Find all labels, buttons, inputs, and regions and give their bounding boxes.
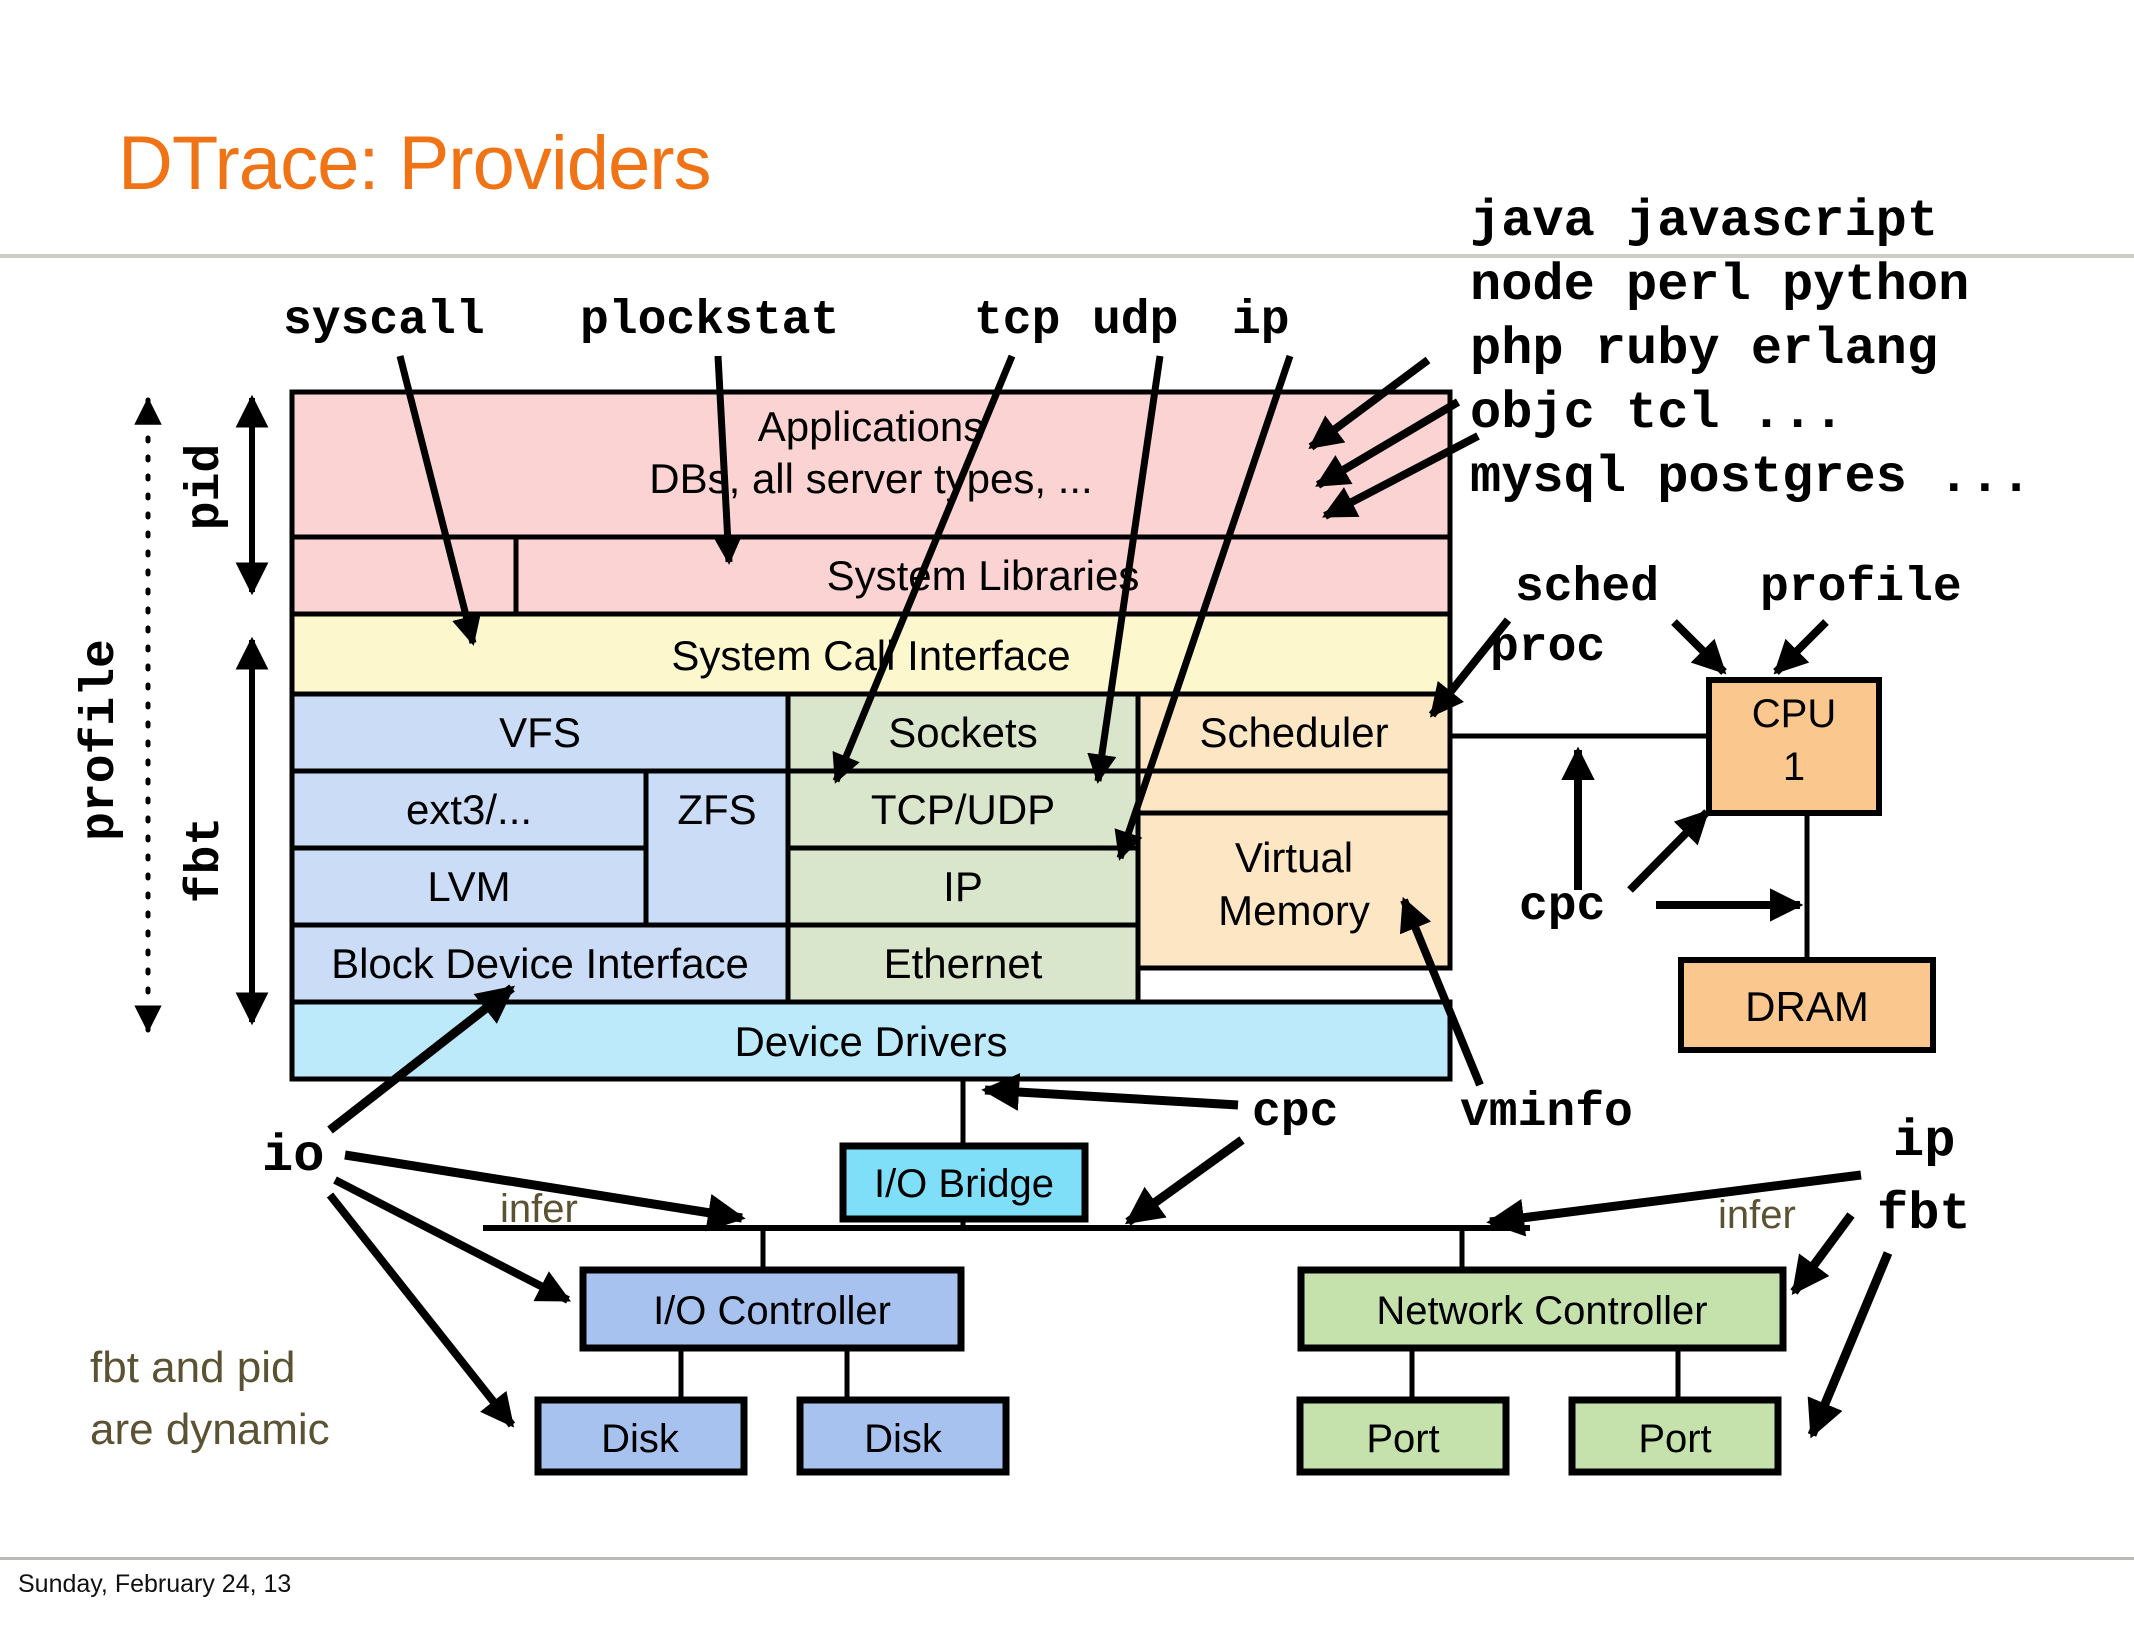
label-network-controller: Network Controller	[1376, 1289, 1707, 1333]
label-cpu-line2: 1	[1783, 745, 1805, 789]
label-io-bridge: I/O Bridge	[874, 1162, 1054, 1206]
leader-ip-bus	[1490, 1175, 1861, 1222]
label-zfs: ZFS	[677, 786, 756, 833]
provider-syscall: syscall	[283, 294, 485, 348]
label-disk-2: Disk	[864, 1417, 943, 1461]
provider-ip-top: ip	[1232, 294, 1290, 348]
provider-vminfo: vminfo	[1460, 1086, 1633, 1140]
provider-tcp: tcp	[974, 294, 1060, 348]
provider-pid: pid	[179, 444, 233, 530]
provider-lang-line5: mysql postgres ...	[1470, 448, 2032, 507]
label-dram: DRAM	[1745, 983, 1869, 1030]
leader-fbt-port	[1812, 1253, 1888, 1435]
slide-canvas: DTrace: Providers Sunday, February 24, 1…	[0, 0, 2134, 1642]
provider-profile-right: profile	[1760, 561, 1962, 615]
label-applications-line2: DBs, all server types, ...	[649, 455, 1092, 502]
provider-fbt-bottom: fbt	[1877, 1185, 1971, 1244]
label-device-drivers: Device Drivers	[734, 1018, 1007, 1065]
label-system-call-interface: System Call Interface	[671, 632, 1070, 679]
provider-lang-line1: java javascript	[1470, 192, 1938, 251]
provider-sched: sched	[1515, 561, 1659, 615]
leader-cpc-bridge-up	[985, 1090, 1238, 1105]
hardware-cpu-group: CPU 1 DRAM sched proc profile cpc	[1432, 561, 1962, 1050]
provider-profile-left: profile	[74, 639, 128, 841]
label-tcp-udp: TCP/UDP	[871, 786, 1055, 833]
left-provider-scales: profile pid fbt	[74, 398, 252, 1030]
label-cpu-line1: CPU	[1752, 692, 1836, 736]
provider-lang-line2: node perl python	[1470, 256, 1969, 315]
note-dynamic-line1: fbt and pid	[90, 1343, 296, 1392]
label-disk-1: Disk	[601, 1417, 680, 1461]
label-system-libraries: System Libraries	[827, 552, 1140, 599]
label-sockets: Sockets	[888, 709, 1037, 756]
leader-proc-cpu	[1674, 622, 1724, 672]
label-ext3: ext3/...	[406, 786, 532, 833]
label-vfs: VFS	[499, 709, 581, 756]
provider-cpc-cpu: cpc	[1519, 880, 1605, 934]
label-scheduler: Scheduler	[1199, 709, 1388, 756]
software-stack: Applications DBs, all server types, ... …	[292, 392, 1450, 1079]
dtrace-providers-diagram: Applications DBs, all server types, ... …	[0, 0, 2134, 1642]
label-block-device-interface: Block Device Interface	[331, 940, 749, 987]
provider-fbt-left: fbt	[179, 817, 233, 903]
leader-cpc-cpu	[1630, 812, 1707, 890]
provider-io: io	[262, 1127, 324, 1186]
provider-ip-bottom: ip	[1893, 1112, 1955, 1171]
label-ethernet: Ethernet	[884, 940, 1043, 987]
label-port-1: Port	[1366, 1417, 1439, 1461]
provider-proc: proc	[1490, 621, 1605, 675]
note-infer-right: infer	[1718, 1193, 1796, 1237]
label-ip: IP	[943, 863, 983, 910]
provider-udp: udp	[1092, 294, 1178, 348]
provider-lang-line4: objc tcl ...	[1470, 384, 1844, 443]
provider-cpc-bridge: cpc	[1252, 1086, 1338, 1140]
note-infer-left: infer	[500, 1187, 578, 1231]
language-provider-list: java javascript node perl python php rub…	[1470, 192, 2032, 507]
label-virtual-memory-line2: Memory	[1218, 887, 1370, 934]
label-io-controller: I/O Controller	[653, 1289, 891, 1333]
leader-fbt-network-controller	[1794, 1215, 1851, 1292]
leader-cpc-bus	[1128, 1140, 1242, 1222]
note-dynamic-line2: are dynamic	[90, 1405, 330, 1454]
provider-lang-line3: php ruby erlang	[1470, 320, 1938, 379]
leader-profile-cpu	[1776, 622, 1826, 672]
provider-plockstat: plockstat	[580, 294, 839, 348]
label-virtual-memory-line1: Virtual	[1235, 834, 1353, 881]
label-lvm: LVM	[427, 863, 510, 910]
dynamic-note: fbt and pid are dynamic	[90, 1343, 330, 1454]
label-applications-line1: Applications	[758, 403, 984, 450]
label-port-2: Port	[1638, 1417, 1711, 1461]
